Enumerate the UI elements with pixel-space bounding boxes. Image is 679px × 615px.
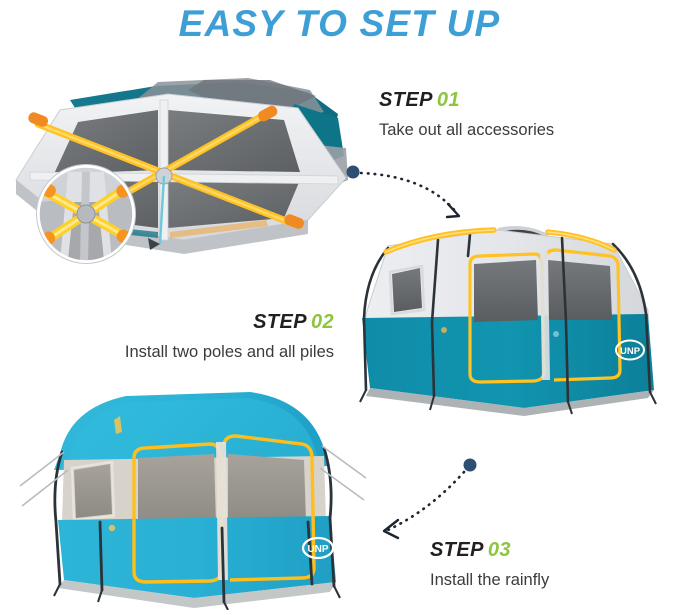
step-02-text-block: STEP02 Install two poles and all piles — [78, 310, 334, 363]
page-title: EASY TO SET UP — [0, 2, 679, 46]
step-01-text-block: STEP01 Take out all accessories — [379, 88, 554, 141]
tent-clip-left — [441, 327, 447, 333]
step-02-image: UNP — [348, 222, 678, 422]
step-03-image: UNP — [18, 382, 370, 610]
step-01-heading: STEP01 — [379, 88, 554, 112]
tent-front-mesh-right — [548, 260, 612, 320]
step-03-heading: STEP03 — [430, 538, 549, 562]
brand-logo-text: UNP — [620, 346, 641, 357]
step-01-label: STEP — [379, 89, 433, 111]
connector-arrowhead — [384, 520, 398, 538]
tent-front-mesh-left — [474, 260, 538, 322]
connector-start-dot — [347, 166, 360, 179]
tent-laid-flat-illustration — [8, 52, 368, 264]
step-01-description: Take out all accessories — [379, 119, 554, 141]
tent-side-window-left — [74, 464, 112, 518]
tent-complete-illustration: UNP — [18, 382, 370, 610]
connector-dotted-path — [361, 173, 456, 212]
step-03-description: Install the rainfly — [430, 569, 549, 591]
tent-clip-left — [109, 525, 115, 531]
step-02-heading: STEP02 — [78, 310, 334, 334]
tent-side-window-left — [392, 268, 422, 312]
connector-step2-to-step3 — [374, 452, 484, 540]
step-03-number: 03 — [488, 539, 511, 561]
tent-front-mesh-right — [228, 454, 306, 524]
tent-front-mesh-left — [138, 454, 216, 526]
connector-dotted-path — [388, 472, 464, 530]
step-01-number: 01 — [437, 89, 460, 111]
step-01-image — [8, 52, 368, 264]
step-02-description: Install two poles and all piles — [78, 341, 334, 363]
connector-step1-to-step2 — [344, 160, 474, 230]
step-03-label: STEP — [430, 539, 484, 561]
step-03-text-block: STEP03 Install the rainfly — [430, 538, 549, 591]
connector-start-dot — [464, 459, 477, 472]
step-02-label: STEP — [253, 311, 307, 333]
tent-clip-right — [553, 331, 559, 337]
connector-arrowhead — [447, 204, 459, 217]
brand-logo-text: UNP — [307, 544, 328, 555]
infographic-canvas: EASY TO SET UP — [0, 0, 679, 613]
tent-frame-standing-illustration: UNP — [348, 222, 678, 422]
step-02-number: 02 — [311, 311, 334, 333]
